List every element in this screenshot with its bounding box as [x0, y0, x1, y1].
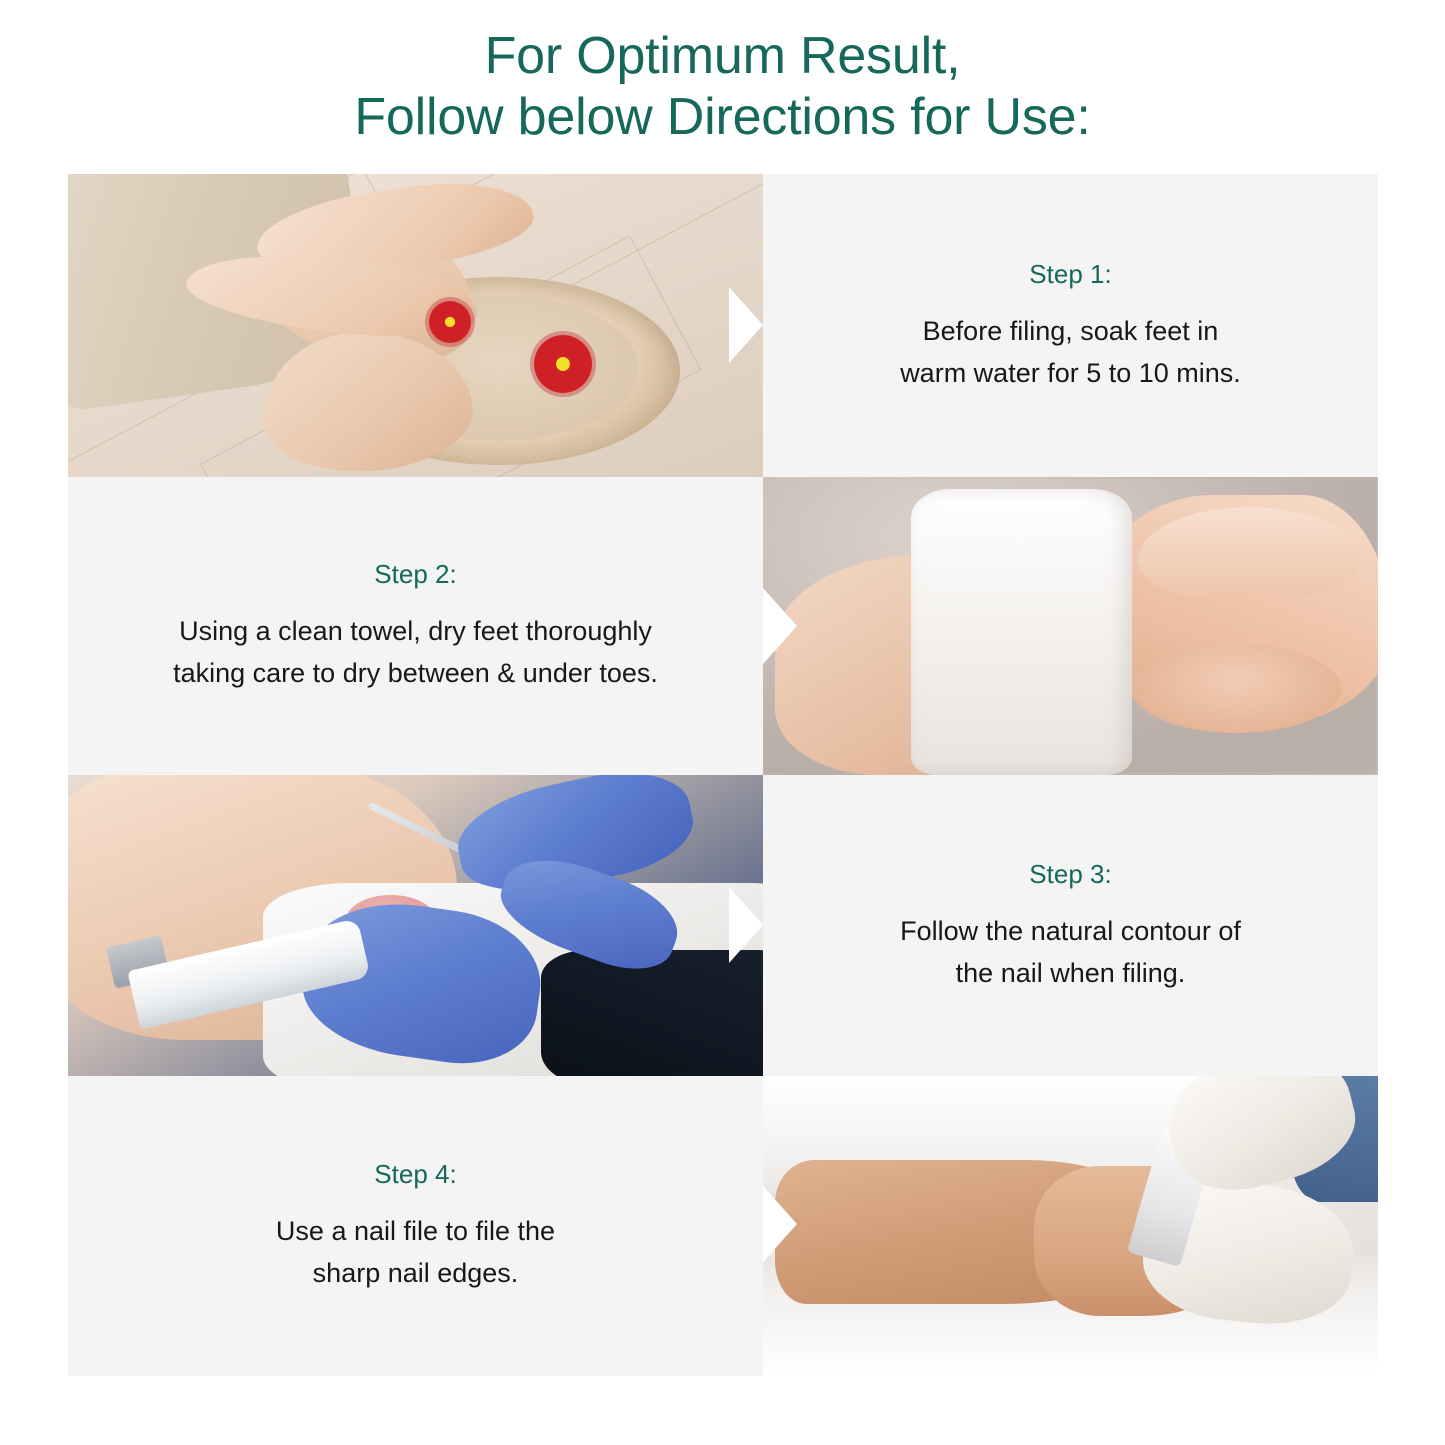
step-2-image: [763, 477, 1378, 775]
flower-icon: [534, 335, 592, 393]
page-title: For Optimum Result, Follow below Directi…: [0, 26, 1445, 148]
step-1-text-panel: Step 1: Before filing, soak feet in warm…: [763, 174, 1378, 477]
step-1-body-line-1: Before filing, soak feet in: [900, 310, 1241, 352]
step-2-body-line-2: taking care to dry between & under toes.: [173, 652, 658, 694]
step-4-body-line-1: Use a nail file to file the: [276, 1210, 555, 1252]
step-2-body-line-1: Using a clean towel, dry feet thoroughly: [173, 610, 658, 652]
step-1-body: Before filing, soak feet in warm water f…: [876, 310, 1265, 394]
page-title-line-2: Follow below Directions for Use:: [0, 87, 1445, 148]
step-2-arrow-icon: [763, 588, 797, 664]
page-title-line-1: For Optimum Result,: [0, 26, 1445, 87]
step-2-label: Step 2:: [374, 558, 456, 590]
towel: [911, 489, 1132, 775]
step-2-text-panel: Step 2: Using a clean towel, dry feet th…: [68, 477, 763, 775]
dark-background: [541, 950, 763, 1076]
step-4-arrow-icon: [763, 1186, 797, 1262]
step-4-label: Step 4:: [374, 1158, 456, 1190]
step-row-4: Step 4: Use a nail file to file the shar…: [68, 1076, 1378, 1376]
step-row-3: Step 3: Follow the natural contour of th…: [68, 775, 1378, 1076]
step-3-image: [68, 775, 763, 1076]
step-3-body-line-2: the nail when filing.: [900, 952, 1241, 994]
step-1-body-line-2: warm water for 5 to 10 mins.: [900, 352, 1241, 394]
step-4-text-panel: Step 4: Use a nail file to file the shar…: [68, 1076, 763, 1376]
step-3-body-line-1: Follow the natural contour of: [900, 910, 1241, 952]
step-4-image: [763, 1076, 1378, 1376]
steps-grid: Step 1: Before filing, soak feet in warm…: [68, 174, 1378, 1376]
step-row-2: Step 2: Using a clean towel, dry feet th…: [68, 477, 1378, 775]
step-3-text-panel: Step 3: Follow the natural contour of th…: [763, 775, 1378, 1076]
step-1-label: Step 1:: [1029, 258, 1111, 290]
step-4-body: Use a nail file to file the sharp nail e…: [252, 1210, 579, 1294]
heel: [1132, 644, 1341, 733]
step-4-body-line-2: sharp nail edges.: [276, 1252, 555, 1294]
step-3-label: Step 3:: [1029, 858, 1111, 890]
step-row-1: Step 1: Before filing, soak feet in warm…: [68, 174, 1378, 477]
step-3-body: Follow the natural contour of the nail w…: [876, 910, 1265, 994]
directions-for-use-infographic: For Optimum Result, Follow below Directi…: [0, 0, 1445, 1445]
step-1-image: [68, 174, 763, 477]
step-2-body: Using a clean towel, dry feet thoroughly…: [149, 610, 682, 694]
step-1-arrow-icon: [729, 287, 763, 363]
step-3-arrow-icon: [729, 887, 763, 963]
